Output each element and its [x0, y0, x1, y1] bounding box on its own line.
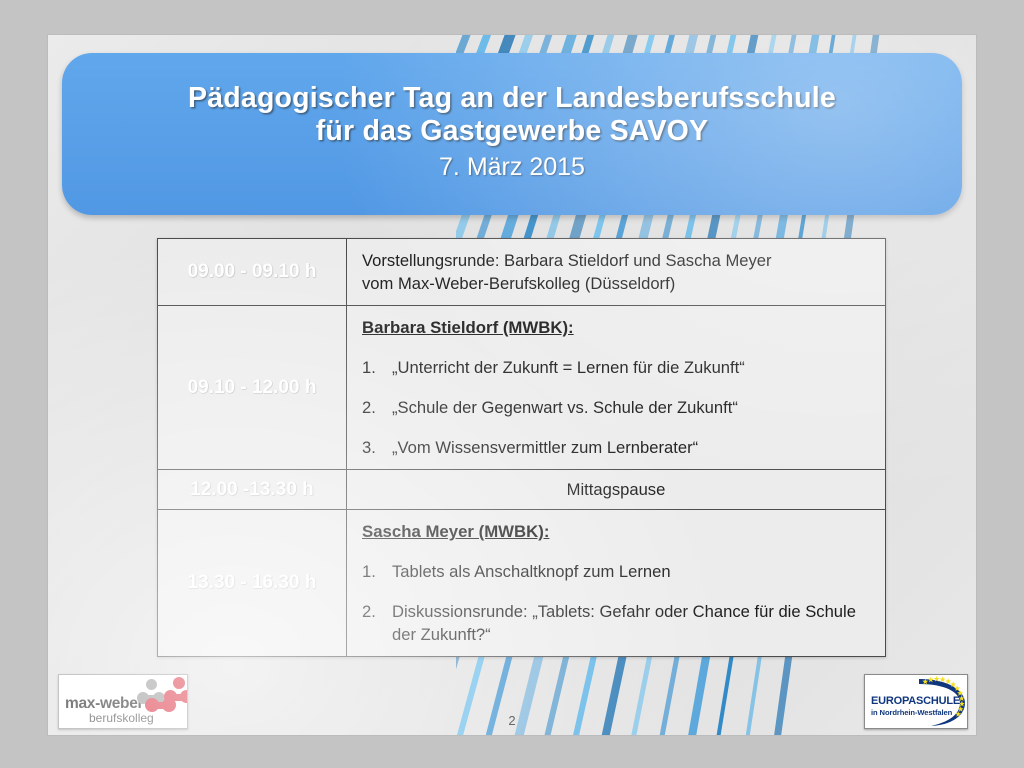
title-date: 7. März 2015 — [439, 153, 585, 181]
agenda-content-cell: Barbara Stieldorf (MWBK):1.„Unterricht d… — [347, 306, 886, 470]
agenda-item-number: 1. — [362, 560, 390, 583]
agenda-item-text: Tablets als Anschaltknopf zum Lernen — [392, 562, 671, 581]
agenda-content-cell: Sascha Meyer (MWBK):1.Tablets als Anscha… — [347, 510, 886, 657]
agenda-item-text: „Schule der Gegenwart vs. Schule der Zuk… — [392, 398, 738, 417]
euro-star-icon — [945, 678, 951, 684]
agenda-time-cell: 09.00 - 09.10 h — [158, 239, 347, 306]
agenda-item-text: Diskussionsrunde: „Tablets: Gefahr oder … — [392, 602, 856, 644]
agenda-row: 12.00 -13.30 hMittagspause — [158, 470, 886, 510]
agenda-content-cell: Vorstellungsrunde: Barbara Stieldorf und… — [347, 239, 886, 306]
euro-star-icon — [934, 676, 940, 682]
euro-star-icon — [950, 681, 956, 687]
agenda-item-number: 3. — [362, 436, 390, 459]
presentation-slide: Pädagogischer Tag an der Landesberufssch… — [48, 35, 976, 735]
agenda-row: 09.00 - 09.10 hVorstellungsrunde: Barbar… — [158, 239, 886, 306]
agenda-item-number: 2. — [362, 600, 390, 623]
agenda-list-item: 2.„Schule der Gegenwart vs. Schule der Z… — [362, 396, 871, 419]
title-line-2: für das Gastgewerbe SAVOY — [316, 115, 709, 148]
agenda-list-item: 1.„Unterricht der Zukunft = Lernen für d… — [362, 356, 871, 379]
logo-euro-subtitle: in Nordrhein-Westfalen — [871, 708, 952, 717]
euro-star-icon — [955, 711, 961, 717]
agenda-time-cell: 13.30 - 16.30 h — [158, 510, 347, 657]
logo-euro-name: EUROPASCHULE — [871, 695, 960, 707]
agenda-list-item: 2.Diskussionsrunde: „Tablets: Gefahr ode… — [362, 600, 871, 646]
agenda-item-number: 2. — [362, 396, 390, 419]
logo-red-dots-lower-icon — [145, 697, 187, 713]
agenda-item-list: 1.Tablets als Anschaltknopf zum Lernen2.… — [362, 560, 871, 646]
agenda-item-text: „Unterricht der Zukunft = Lernen für die… — [392, 358, 745, 377]
agenda-row: 13.30 - 16.30 hSascha Meyer (MWBK):1.Tab… — [158, 510, 886, 657]
logo-max-weber-berufskolleg: max-weber berufskolleg — [58, 674, 188, 729]
agenda-text-line: Mittagspause — [357, 478, 875, 501]
title-line-1: Pädagogischer Tag an der Landesberufssch… — [188, 82, 836, 115]
agenda-item-text: „Vom Wissensvermittler zum Lernberater“ — [392, 438, 698, 457]
title-plaque: Pädagogischer Tag an der Landesberufssch… — [62, 53, 962, 215]
agenda-list-item: 1.Tablets als Anschaltknopf zum Lernen — [362, 560, 871, 583]
agenda-table: 09.00 - 09.10 hVorstellungsrunde: Barbar… — [157, 238, 886, 657]
agenda-speaker-heading: Barbara Stieldorf (MWBK): — [362, 316, 871, 339]
agenda-text-line: vom Max-Weber-Berufskolleg (Düsseldorf) — [362, 272, 871, 295]
agenda-time-cell: 09.10 - 12.00 h — [158, 306, 347, 470]
agenda-row: 09.10 - 12.00 hBarbara Stieldorf (MWBK):… — [158, 306, 886, 470]
euro-star-icon — [928, 677, 934, 683]
euro-star-icon — [940, 676, 946, 682]
agenda-list-item: 3.„Vom Wissensvermittler zum Lernberater… — [362, 436, 871, 459]
euro-star-icon — [922, 679, 928, 685]
euro-star-icon — [954, 685, 960, 691]
agenda-text-line: Vorstellungsrunde: Barbara Stieldorf und… — [362, 249, 871, 272]
logo-europaschule: EUROPASCHULE in Nordrhein-Westfalen — [864, 674, 968, 729]
agenda-item-list: 1.„Unterricht der Zukunft = Lernen für d… — [362, 356, 871, 459]
agenda-content-cell: Mittagspause — [347, 470, 886, 510]
agenda-speaker-heading: Sascha Meyer (MWBK): — [362, 520, 871, 543]
agenda-time-cell: 12.00 -13.30 h — [158, 470, 347, 510]
agenda-item-number: 1. — [362, 356, 390, 379]
slide-viewer: Pädagogischer Tag an der Landesberufssch… — [0, 0, 1024, 768]
logo-mwbk-subtitle: berufskolleg — [89, 711, 154, 725]
